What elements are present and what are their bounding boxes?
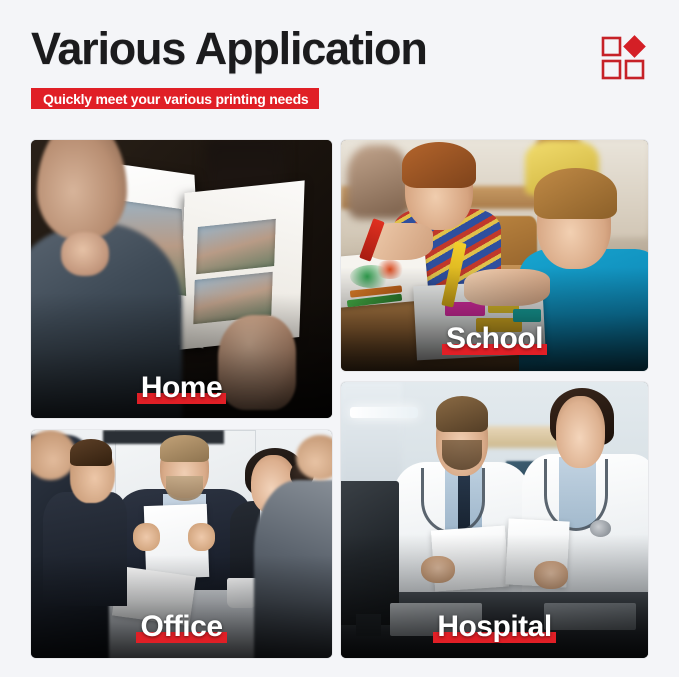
doctor-2-head [556,396,605,468]
attendee-left-hair [70,439,112,466]
tile-school[interactable]: School [341,140,648,371]
subtitle-text: Quickly meet your various printing needs [43,92,308,106]
photo-home [31,140,332,418]
boy-1-hair [402,142,476,188]
photo-office [31,430,332,658]
various-application-banner: Various Application Quickly meet your va… [0,0,679,677]
photo-hospital [341,382,648,658]
photo-school [341,140,648,371]
ceiling-light [350,407,418,418]
presenter-hand-right [188,523,215,550]
header: Various Application Quickly meet your va… [0,0,679,132]
presenter-hand-left [133,523,160,550]
photo-vignette [31,293,332,418]
presenter-hair [160,435,208,462]
tile-hospital[interactable]: Hospital [341,382,648,658]
doctor-1-hair [436,396,488,432]
tile-home[interactable]: Home [31,140,332,418]
presenter-beard [166,476,202,501]
boy-2-hair [534,168,617,219]
background-child-1 [347,145,408,219]
photo-vignette [341,267,648,371]
viewer-head [37,140,127,240]
viewer-hand-left [61,232,109,276]
photo-vignette [341,534,648,658]
stethoscope-1 [421,468,485,534]
four-squares-diamond-logo-icon [599,28,651,80]
subtitle-banner: Quickly meet your various printing needs [31,88,319,109]
album-photo-2 [196,219,276,275]
photo-vignette [31,555,332,658]
tile-office[interactable]: Office [31,430,332,658]
page-title: Various Application [31,23,427,75]
